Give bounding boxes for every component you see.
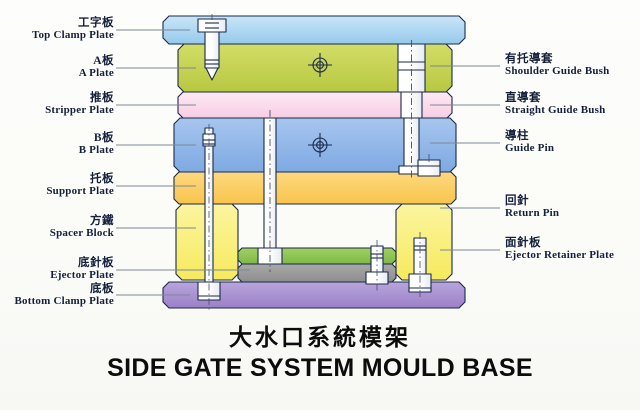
label-bottom-clamp-plate-cn: 底板 <box>4 284 114 296</box>
plate-support <box>174 172 456 204</box>
label-ejector-retainer-plate: 面針板 Ejector Retainer Plate <box>505 238 640 261</box>
diagram-title: 大水口系統模架 SIDE GATE SYSTEM MOULD BASE <box>0 318 640 383</box>
label-straight-guide-bush-en: Straight Guide Bush <box>505 105 639 116</box>
label-stripper-plate-en: Stripper Plate <box>4 105 114 116</box>
label-shoulder-guide-bush: 有托導套 Shoulder Guide Bush <box>505 54 639 77</box>
label-ejector-retainer-plate-cn: 面針板 <box>505 238 640 250</box>
label-spacer-block-cn: 方鐵 <box>4 216 114 228</box>
label-ejector-plate-en: Ejector Plate <box>4 270 114 281</box>
label-a-plate-en: A Plate <box>4 68 114 79</box>
label-ejector-plate-cn: 底針板 <box>4 258 114 270</box>
label-straight-guide-bush: 直導套 Straight Guide Bush <box>505 93 639 116</box>
label-spacer-block: 方鐵 Spacer Block <box>4 216 114 239</box>
label-return-pin: 回針 Return Pin <box>505 196 639 219</box>
title-english: SIDE GATE SYSTEM MOULD BASE <box>0 354 640 383</box>
label-support-plate-en: Support Plate <box>4 186 114 197</box>
label-guide-pin-en: Guide Pin <box>505 143 639 154</box>
label-return-pin-en: Return Pin <box>505 208 639 219</box>
label-b-plate-cn: B板 <box>4 133 114 145</box>
label-top-clamp-plate: 工字板 Top Clamp Plate <box>4 18 114 41</box>
label-support-plate-cn: 托板 <box>4 174 114 186</box>
label-b-plate: B板 B Plate <box>4 133 114 156</box>
label-a-plate: A板 A Plate <box>4 56 114 79</box>
label-shoulder-guide-bush-cn: 有托導套 <box>505 54 639 66</box>
label-support-plate: 托板 Support Plate <box>4 174 114 197</box>
diagram-canvas: 工字板 Top Clamp Plate A板 A Plate 推板 Stripp… <box>0 0 640 410</box>
label-guide-pin: 導柱 Guide Pin <box>505 131 639 154</box>
label-bottom-clamp-plate-en: Bottom Clamp Plate <box>4 296 114 307</box>
label-top-clamp-plate-cn: 工字板 <box>4 18 114 30</box>
label-return-pin-cn: 回針 <box>505 196 639 208</box>
label-stripper-plate-cn: 推板 <box>4 93 114 105</box>
label-shoulder-guide-bush-en: Shoulder Guide Bush <box>505 66 639 77</box>
label-spacer-block-en: Spacer Block <box>4 228 114 239</box>
label-a-plate-cn: A板 <box>4 56 114 68</box>
label-stripper-plate: 推板 Stripper Plate <box>4 93 114 116</box>
label-top-clamp-plate-en: Top Clamp Plate <box>4 30 114 41</box>
label-ejector-retainer-plate-en: Ejector Retainer Plate <box>505 250 640 261</box>
label-guide-pin-cn: 導柱 <box>505 131 639 143</box>
label-straight-guide-bush-cn: 直導套 <box>505 93 639 105</box>
label-bottom-clamp-plate: 底板 Bottom Clamp Plate <box>4 284 114 307</box>
label-ejector-plate: 底針板 Ejector Plate <box>4 258 114 281</box>
title-chinese: 大水口系統模架 <box>0 318 640 352</box>
label-b-plate-en: B Plate <box>4 145 114 156</box>
